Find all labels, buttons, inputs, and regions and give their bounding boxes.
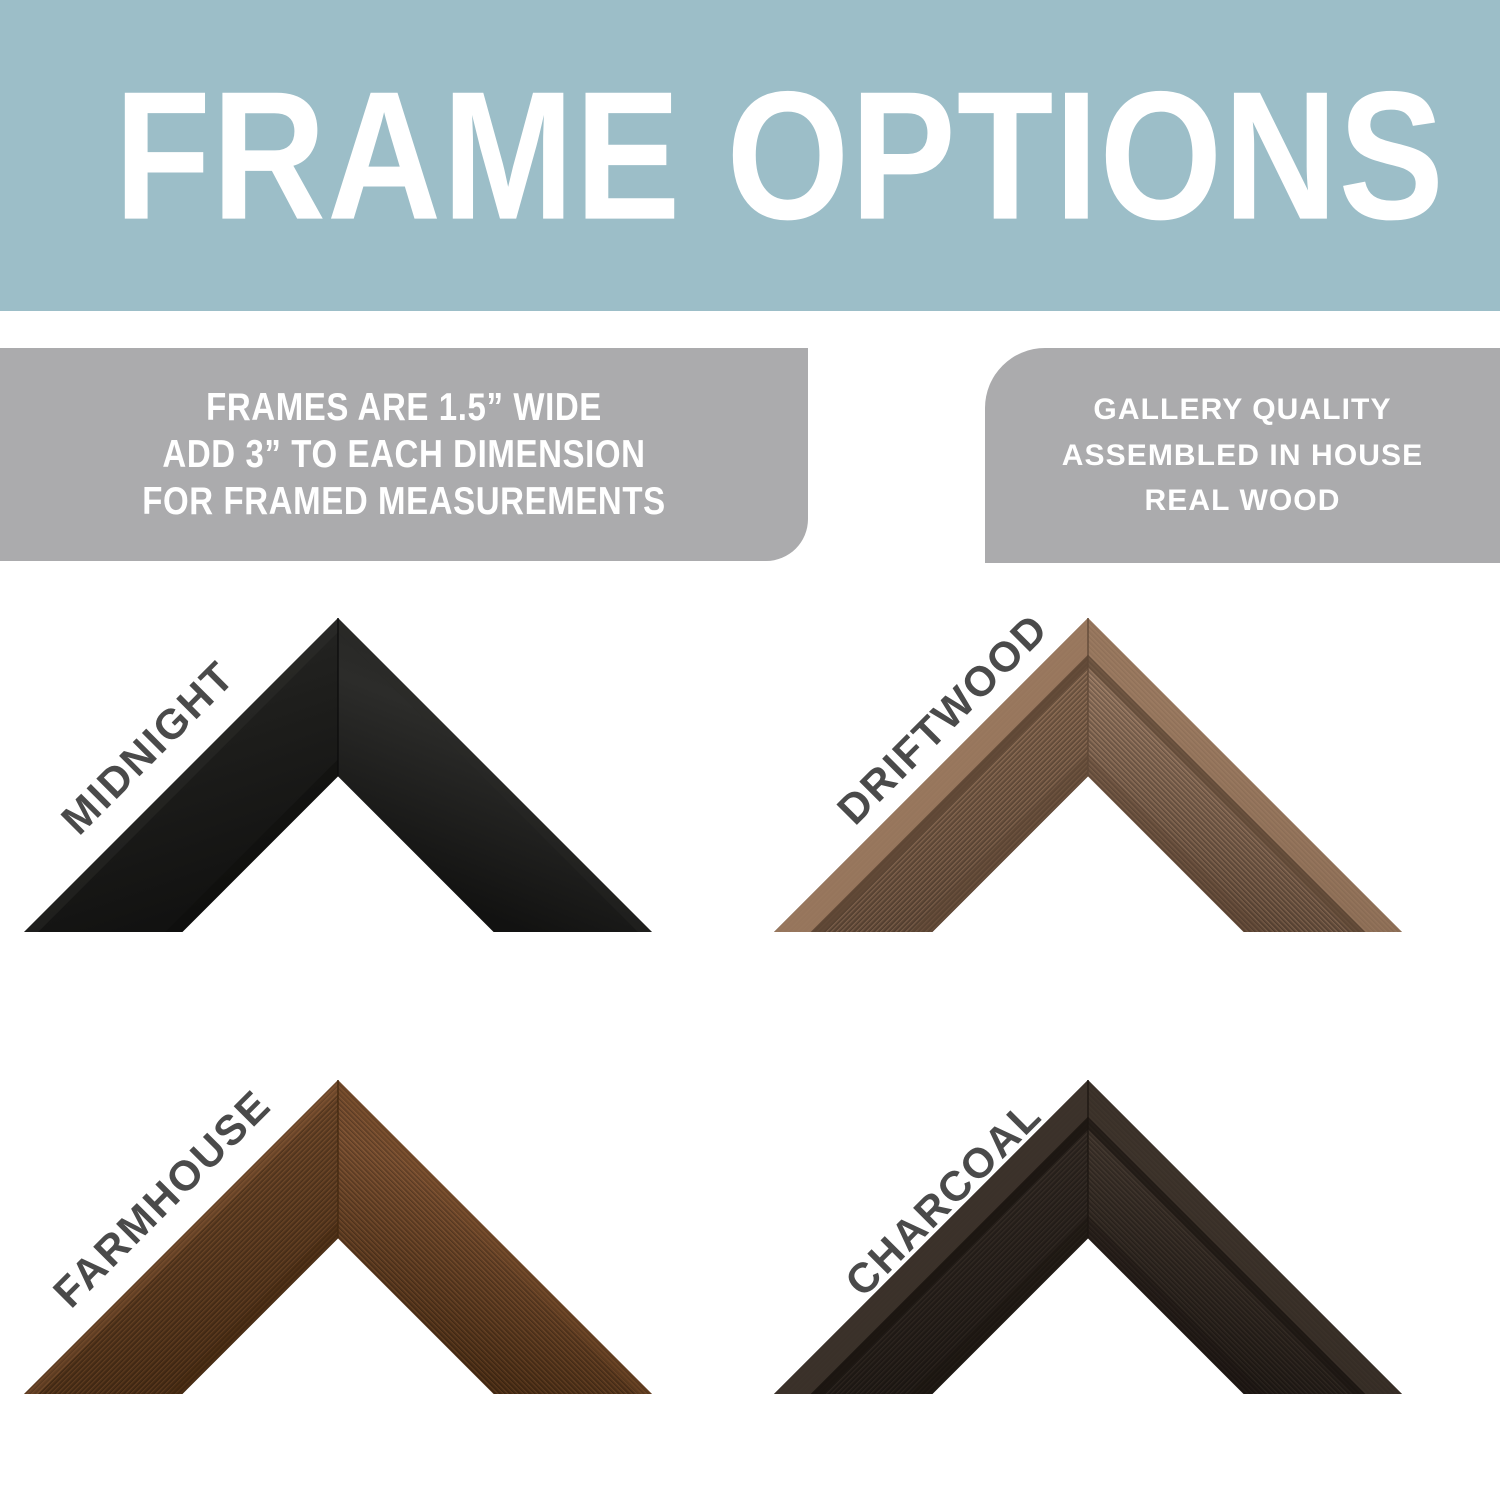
frame-corner-farmhouse: [20, 1072, 720, 1422]
frame-corner-driftwood: [770, 610, 1470, 960]
info-right-line-2: ASSEMBLED IN HOUSE: [1062, 433, 1424, 479]
header-banner: FRAME OPTIONS: [0, 0, 1500, 311]
frame-option-midnight[interactable]: [0, 575, 750, 1037]
info-left-line-3: FOR FRAMED MEASUREMENTS: [142, 474, 665, 529]
info-box-quality: GALLERY QUALITY ASSEMBLED IN HOUSE REAL …: [985, 348, 1500, 563]
frame-options-grid: [0, 575, 1500, 1500]
info-right-line-3: REAL WOOD: [1144, 478, 1340, 524]
frame-corner-midnight: [20, 610, 720, 960]
info-box-measurements: FRAMES ARE 1.5” WIDE ADD 3” TO EACH DIME…: [0, 348, 808, 561]
frame-option-driftwood[interactable]: [750, 575, 1500, 1037]
page-title: FRAME OPTIONS: [0, 64, 1445, 247]
frame-option-charcoal[interactable]: [750, 1037, 1500, 1499]
info-right-line-1: GALLERY QUALITY: [1093, 387, 1391, 433]
infographic-page: FRAME OPTIONS FRAMES ARE 1.5” WIDE ADD 3…: [0, 0, 1500, 1500]
frame-option-farmhouse[interactable]: [0, 1037, 750, 1499]
frame-corner-charcoal: [770, 1072, 1470, 1422]
